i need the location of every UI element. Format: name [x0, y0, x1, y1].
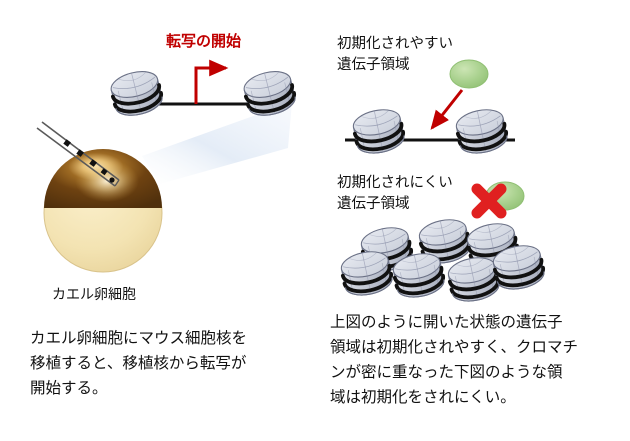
figure-canvas: 転写の開始 カエル卵細胞 カエル卵細胞にマウス細胞核を 移植すると、移植核から転…: [0, 0, 630, 441]
right-paragraph-line-3: ンが密に重なった下図のような領: [330, 360, 578, 385]
left-paragraph-line-2: 移植すると、移植核から転写が: [30, 351, 247, 376]
heading-closed-region: 初期化されにくい 遺伝子領域: [337, 173, 453, 215]
left-paragraph-line-3: 開始する。: [30, 376, 247, 401]
heading-open-line-2: 遺伝子領域: [337, 55, 453, 76]
left-paragraph-line-1: カエル卵細胞にマウス細胞核を: [30, 326, 247, 351]
heading-closed-line-2: 遺伝子領域: [337, 194, 453, 215]
right-paragraph-line-2: 領域は初期化されやすく、クロマチ: [330, 335, 578, 360]
heading-closed-line-1: 初期化されにくい: [337, 173, 453, 194]
frog-egg-caption: カエル卵細胞: [52, 285, 136, 305]
right-paragraph-line-4: 域は初期化をされにくい。: [330, 385, 578, 410]
right-paragraph: 上図のように開いた状態の遺伝子 領域は初期化されやすく、クロマチ ンが密に重なっ…: [330, 310, 578, 410]
left-paragraph: カエル卵細胞にマウス細胞核を 移植すると、移植核から転写が 開始する。: [30, 326, 247, 401]
right-paragraph-line-1: 上図のように開いた状態の遺伝子: [330, 310, 578, 335]
reprogramming-factor-blocked: [477, 182, 524, 213]
heading-open-region: 初期化されやすい 遺伝子領域: [337, 34, 453, 76]
left-chromatin-group: [108, 67, 297, 119]
transcription-start-title: 転写の開始: [166, 33, 241, 50]
right-open-chromatin-group: [345, 106, 515, 157]
condensed-chromatin-cluster: [339, 216, 546, 305]
heading-open-line-1: 初期化されやすい: [337, 34, 453, 55]
transcription-start-arrow: [196, 68, 226, 104]
